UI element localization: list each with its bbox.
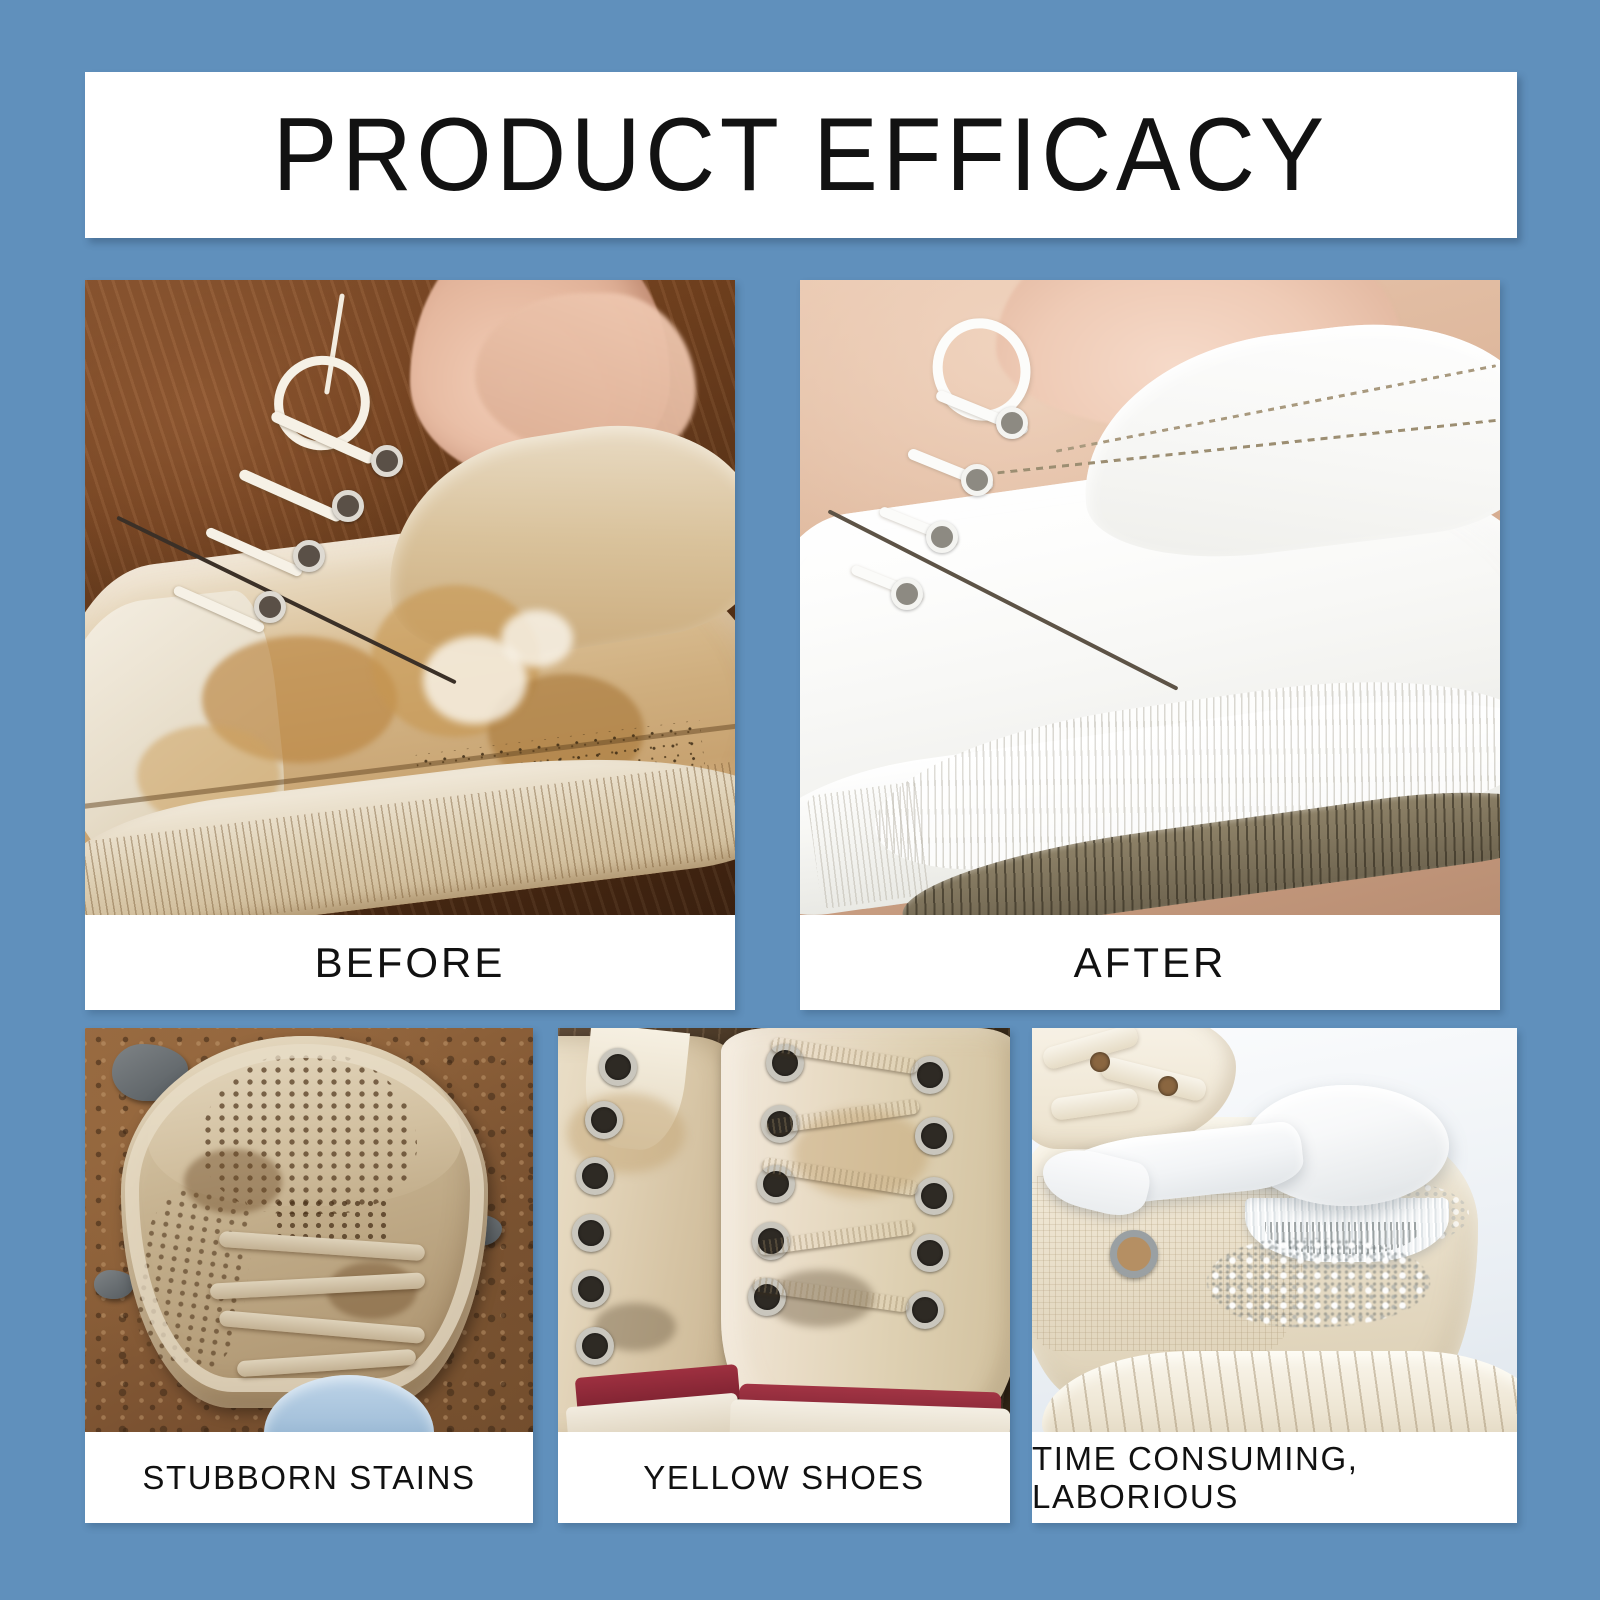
eyelet [585,1101,623,1139]
time-consuming-caption-bar: TIME CONSUMING, LABORIOUS [1032,1432,1517,1523]
yellow-shoes-label: YELLOW SHOES [643,1459,924,1497]
eyelet [599,1048,637,1086]
stubborn-stains-caption-bar: STUBBORN STAINS [85,1432,533,1523]
after-caption-label: AFTER [1074,939,1227,987]
eyelet [576,1327,614,1365]
soap-foam [1207,1238,1430,1327]
eyelet [911,1234,949,1272]
eyelet [915,1117,953,1155]
problem-card-time-consuming: TIME CONSUMING, LABORIOUS [1032,1028,1517,1523]
title-banner: PRODUCT EFFICACY [85,72,1517,238]
stubborn-stains-photo [85,1028,533,1432]
eyelet [572,1270,610,1308]
eyelet [961,464,993,496]
page-title: PRODUCT EFFICACY [273,103,1329,207]
rock [94,1270,134,1298]
problem-card-yellow-shoes: YELLOW SHOES [558,1028,1010,1523]
stubborn-stains-label: STUBBORN STAINS [142,1459,475,1497]
heel-patch [807,781,934,910]
after-caption-bar: AFTER [800,915,1500,1010]
time-consuming-label: TIME CONSUMING, LABORIOUS [1032,1440,1517,1516]
metal-eyelet [1110,1230,1158,1278]
yellow-shoes-photo [558,1028,1010,1432]
before-card: BEFORE [85,280,735,1010]
before-caption-bar: BEFORE [85,915,735,1010]
eyelet [572,1214,610,1252]
mud-patch [184,1149,283,1214]
eyelet [996,407,1028,439]
eyelet [254,591,286,623]
eyelet [332,490,364,522]
after-photo [800,280,1500,915]
time-consuming-photo [1032,1028,1517,1432]
after-card: AFTER [800,280,1500,1010]
problem-card-stubborn-stains: STUBBORN STAINS [85,1028,533,1523]
eyelet [371,445,403,477]
shoe-rim [125,1044,483,1391]
yellow-shoes-caption-bar: YELLOW SHOES [558,1432,1010,1523]
poster-root: PRODUCT EFFICACY [0,0,1600,1600]
before-photo [85,280,735,915]
eyelet [906,1291,944,1329]
before-caption-label: BEFORE [315,939,506,987]
sole-tread-texture [1042,1351,1517,1432]
highlight [501,610,573,667]
